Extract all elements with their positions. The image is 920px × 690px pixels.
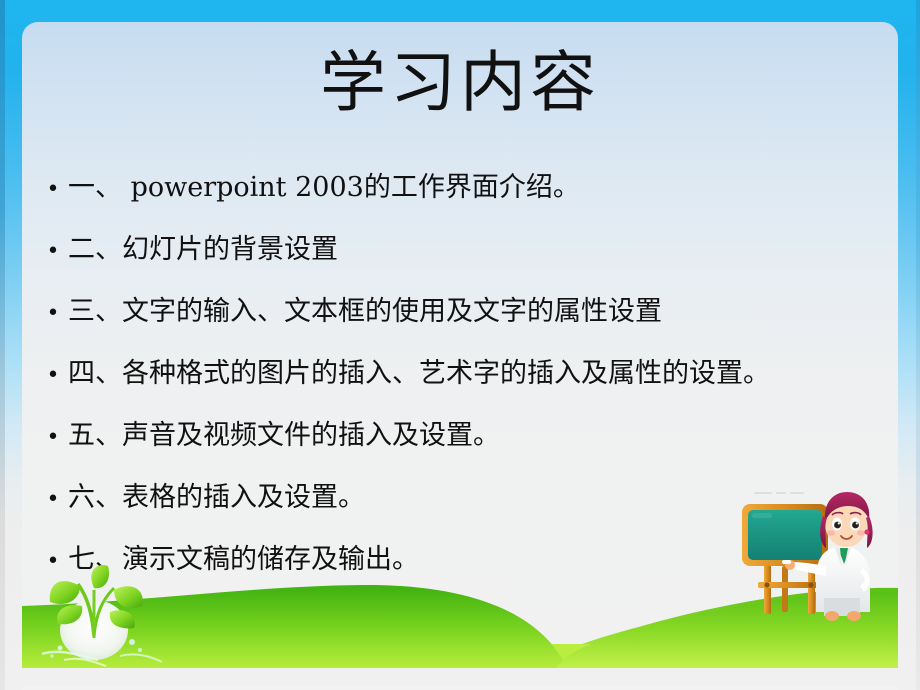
list-item: • 二、幻灯片的背景设置 bbox=[38, 236, 898, 298]
presentation-slide: 学习内容 • 一、 powerpoint 2003的工作界面介绍。 • 二、幻灯… bbox=[0, 0, 920, 690]
panel-bottom-strip bbox=[22, 686, 898, 690]
slide-content-panel: 学习内容 • 一、 powerpoint 2003的工作界面介绍。 • 二、幻灯… bbox=[22, 22, 898, 668]
list-item: • 四、各种格式的图片的插入、艺术字的插入及属性的设置。 bbox=[38, 360, 898, 422]
bullet-dot-icon: • bbox=[38, 551, 68, 573]
list-item: • 一、 powerpoint 2003的工作界面介绍。 bbox=[38, 174, 898, 236]
bullet-text: 七、演示文稿的储存及输出。 bbox=[68, 546, 419, 573]
bullet-text: 六、表格的插入及设置。 bbox=[68, 484, 365, 511]
bullet-dot-icon: • bbox=[38, 179, 68, 201]
list-item: • 三、文字的输入、文本框的使用及文字的属性设置 bbox=[38, 298, 898, 360]
bullet-text: 二、幻灯片的背景设置 bbox=[68, 236, 338, 263]
frame-left-edge bbox=[0, 0, 5, 690]
bullet-text: 一、 powerpoint 2003的工作界面介绍。 bbox=[68, 174, 580, 201]
bullet-text: 三、文字的输入、文本框的使用及文字的属性设置 bbox=[68, 298, 662, 325]
list-item: • 五、声音及视频文件的插入及设置。 bbox=[38, 422, 898, 484]
slide-title: 学习内容 bbox=[22, 50, 898, 116]
list-item: • 六、表格的插入及设置。 bbox=[38, 484, 898, 546]
bullet-dot-icon: • bbox=[38, 365, 68, 387]
bullet-text: 四、各种格式的图片的插入、艺术字的插入及属性的设置。 bbox=[68, 360, 770, 387]
bullet-dot-icon: • bbox=[38, 489, 68, 511]
list-item: • 七、演示文稿的储存及输出。 bbox=[38, 546, 898, 608]
frame-right-edge bbox=[916, 0, 920, 690]
bullet-dot-icon: • bbox=[38, 241, 68, 263]
bullet-text: 五、声音及视频文件的插入及设置。 bbox=[68, 422, 500, 449]
bullet-list: • 一、 powerpoint 2003的工作界面介绍。 • 二、幻灯片的背景设… bbox=[38, 174, 898, 608]
bullet-dot-icon: • bbox=[38, 303, 68, 325]
bullet-dot-icon: • bbox=[38, 427, 68, 449]
